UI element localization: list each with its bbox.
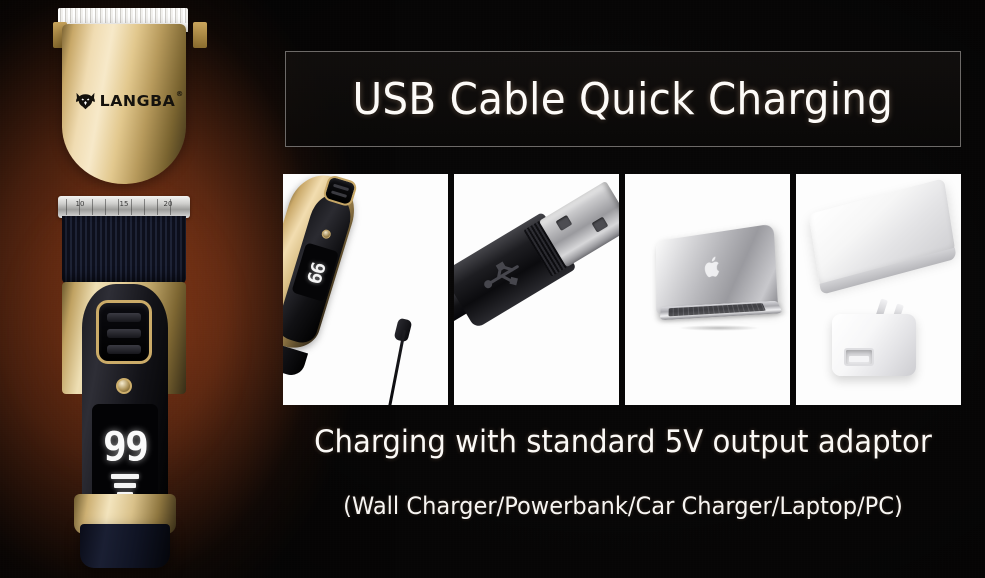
clipper-charging-icon: 99 — [283, 174, 383, 390]
feature-panel-row: 99 — [283, 174, 961, 405]
usb-a-connector-icon — [454, 174, 619, 369]
wall-charger-icon — [832, 300, 924, 378]
hero-product-clipper: LANGBA® 10 15 20 99 — [40, 0, 220, 578]
trademark-symbol: ® — [176, 90, 184, 98]
usb-shield-hole — [592, 217, 609, 233]
brand-name: LANGBA® — [100, 92, 176, 110]
panel-usb-connector — [454, 174, 619, 405]
dial-mark-2: 20 — [164, 200, 173, 208]
dial-mark-1: 15 — [120, 200, 129, 208]
clipper-body: 99 — [283, 174, 363, 355]
apple-logo-icon — [704, 255, 723, 280]
clipper-base-cap — [80, 524, 170, 568]
charge-indicator-led-icon — [116, 378, 132, 394]
usb-shield-hole — [556, 215, 573, 231]
laptop-shadow — [663, 324, 775, 332]
blade-tab-right — [193, 22, 207, 48]
length-adjust-dial[interactable]: 10 15 20 — [58, 196, 190, 218]
panel-power-accessories — [796, 174, 961, 405]
charger-body — [832, 314, 916, 376]
battery-percent-value: 99 — [302, 259, 329, 285]
clipper-grip-ribbed — [62, 216, 186, 284]
clipper-base-cap — [283, 344, 308, 379]
switch-rib — [107, 345, 141, 354]
caption-primary: Charging with standard 5V output adaptor — [305, 424, 940, 460]
switch-rib — [107, 329, 141, 338]
powerbank-icon — [809, 178, 956, 288]
advertisement-banner: LANGBA® 10 15 20 99 USB Cable — [0, 0, 985, 578]
title-banner-box: USB Cable Quick Charging — [285, 51, 961, 147]
panel-clipper-charging: 99 — [283, 174, 448, 405]
charging-cable — [385, 330, 405, 405]
page-title: USB Cable Quick Charging — [353, 74, 894, 125]
laptop-icon — [639, 232, 785, 348]
power-switch[interactable] — [96, 300, 152, 364]
brand-logo: LANGBA® — [74, 90, 173, 112]
wolf-head-icon — [74, 90, 96, 112]
usb-port-icon — [844, 348, 874, 366]
switch-rib — [107, 313, 141, 322]
panel-laptop — [625, 174, 790, 405]
clipper-head-gold: LANGBA® — [62, 24, 186, 184]
dial-numbers: 10 15 20 — [58, 200, 190, 208]
dial-mark-0: 10 — [76, 200, 85, 208]
battery-percent-value: 99 — [103, 427, 147, 467]
caption-secondary: (Wall Charger/Powerbank/Car Charger/Lapt… — [305, 492, 940, 520]
